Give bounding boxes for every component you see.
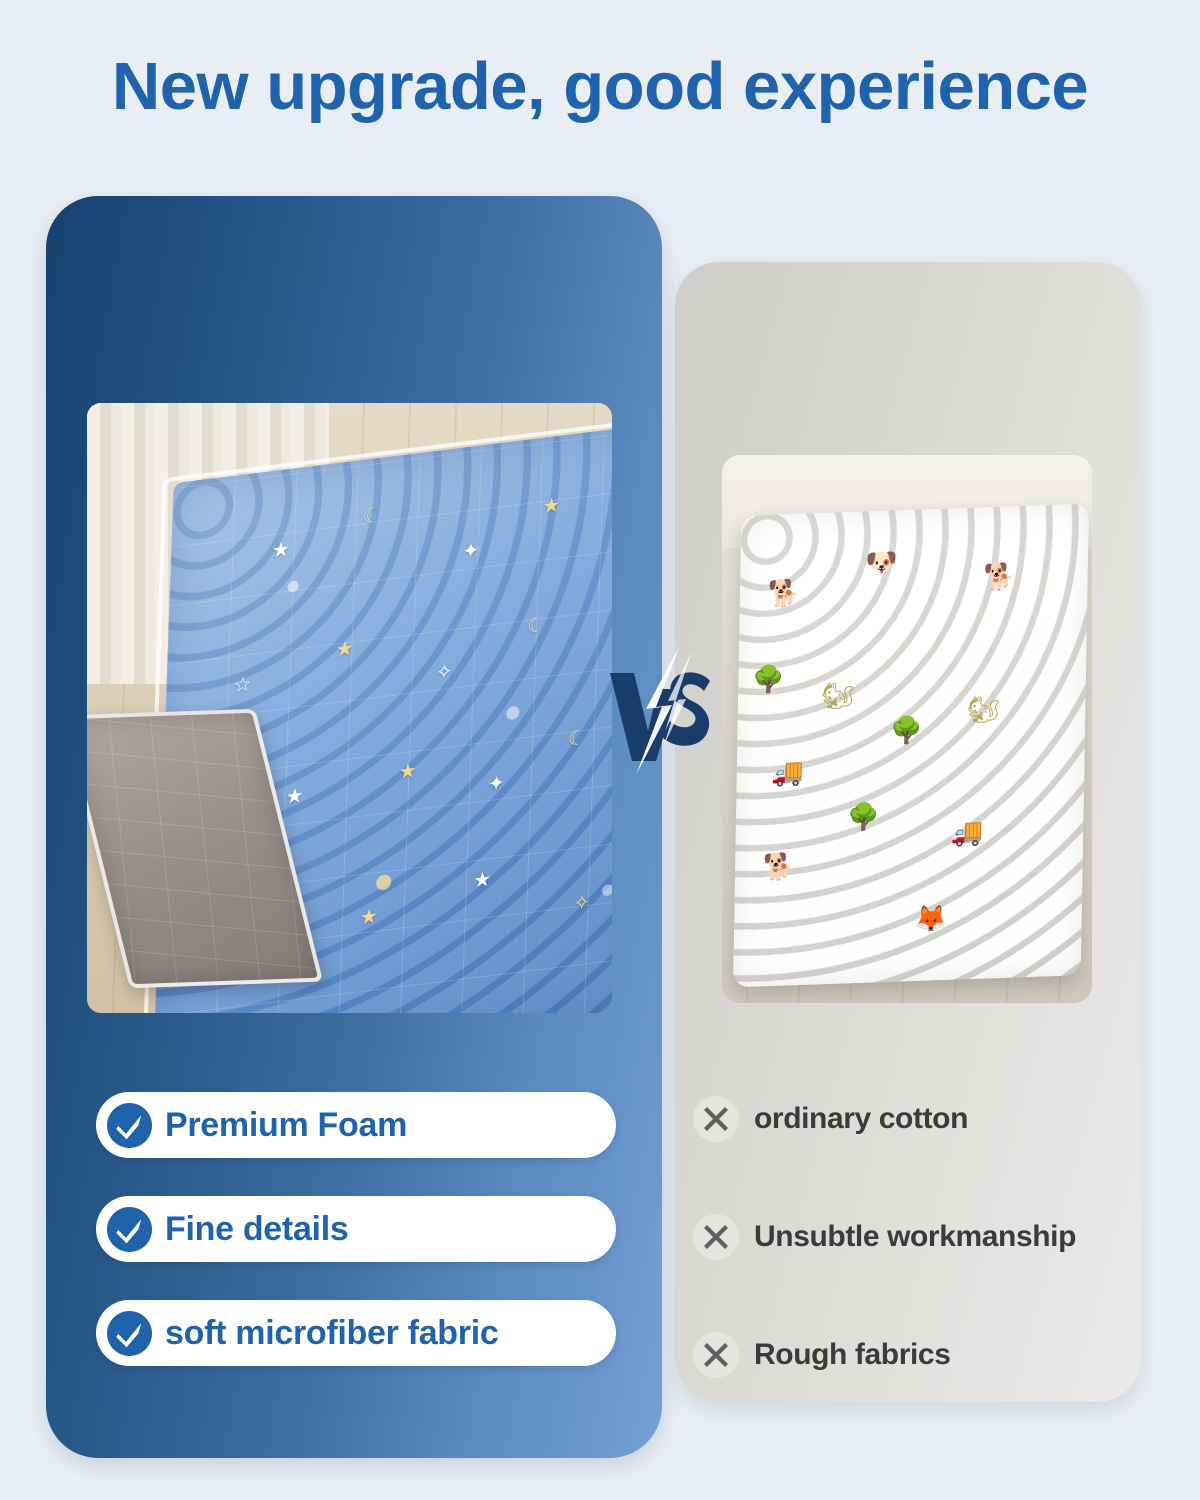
feature-label: soft microfiber fabric: [165, 1314, 498, 1353]
drawback-label: ordinary cotton: [754, 1102, 968, 1136]
others-product-photo: 🐕 🐶 🐕 🌳 🐿 🌳 🐿 🚚 🌳 🚚 🐕 🦊: [722, 455, 1092, 1003]
x-circle-icon: [692, 1213, 740, 1261]
x-circle-icon: [692, 1331, 740, 1379]
white-quilted-mat: 🐕 🐶 🐕 🌳 🐿 🌳 🐿 🚚 🌳 🚚 🐕 🦊: [733, 503, 1089, 987]
drawback-label: Rough fabrics: [754, 1338, 950, 1372]
others-drawback-list: ordinary cotton Unsubtle workmanship Rou…: [692, 1090, 1142, 1384]
check-circle-icon: [106, 1310, 153, 1357]
drawback-item[interactable]: Unsubtle workmanship: [692, 1208, 1142, 1266]
drawback-item[interactable]: ordinary cotton: [692, 1090, 1142, 1148]
feature-pill[interactable]: Premium Foam: [96, 1092, 616, 1158]
feature-label: Premium Foam: [165, 1106, 407, 1145]
ours-product-photo: ★ ☾ ✦ ★ ☆ ★ ✧ ☾ ★ ★ ✦ ☾ ☆ ★ ★ ✧: [87, 403, 612, 1013]
x-circle-icon: [692, 1095, 740, 1143]
page-title: New upgrade, good experience: [0, 50, 1200, 124]
feature-pill[interactable]: soft microfiber fabric: [96, 1300, 616, 1366]
feature-label: Fine details: [165, 1210, 348, 1249]
feature-pill[interactable]: Fine details: [96, 1196, 616, 1262]
drawback-label: Unsubtle workmanship: [754, 1220, 1076, 1254]
ours-feature-list: Premium Foam Fine details soft microfibe…: [96, 1092, 616, 1366]
drawback-item[interactable]: Rough fabrics: [692, 1326, 1142, 1384]
check-circle-icon: [106, 1102, 153, 1149]
versus-badge: [606, 645, 718, 775]
check-circle-icon: [106, 1206, 153, 1253]
